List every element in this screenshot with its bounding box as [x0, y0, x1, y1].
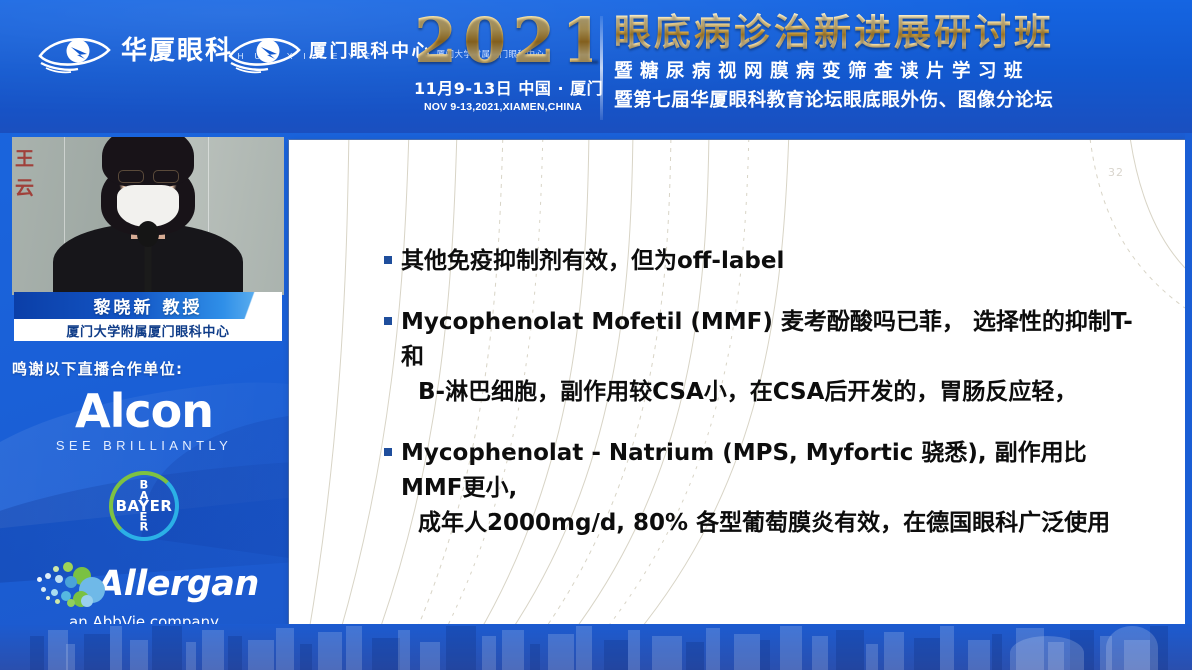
bullet-line-1: Mycophenolat Mofetil (MMF) 麦考酚酸吗已菲， 选择性的… [401, 309, 1133, 370]
event-main-title: 眼底病诊治新进展研讨班 [614, 12, 1182, 53]
slide-bullet-item: 其他免疫抑制剂有效，但为off-label [384, 244, 1144, 279]
speaker-video[interactable]: 王云 [12, 137, 284, 295]
slide-bullet-item: Mycophenolat - Natrium (MPS, Myfortic 骁悉… [384, 436, 1144, 541]
event-subtitle-2: 暨第七届华厦眼科教育论坛眼底眼外伤、图像分论坛 [614, 86, 1182, 112]
header-divider [600, 16, 603, 120]
alcon-tagline: SEE BRILLIANTLY [0, 438, 288, 453]
event-subtitle-1: 暨糖尿病视网膜病变筛查读片学习班 [614, 57, 1182, 83]
city-skyline-graphic [0, 624, 1192, 670]
allergan-logo-row: Allergan [0, 561, 288, 607]
bullet-line-2: 成年人2000mg/d, 80% 各型葡萄膜炎有效，在德国眼科广泛使用 [401, 506, 1144, 541]
event-year: 2021 [414, 8, 592, 73]
speaker-name-banner: 黎晓新 教授 [14, 292, 282, 319]
speaker-name: 黎晓新 教授 [94, 293, 203, 318]
presentation-slide[interactable]: 32 其他免疫抑制剂有效，但为off-label Mycophenolat Mo… [289, 140, 1185, 643]
bullet-text: Mycophenolat Mofetil (MMF) 麦考酚酸吗已菲， 选择性的… [401, 305, 1144, 410]
event-date-block: 2021 11月9-13日 中国 · 厦门 NOV 9-13,2021,XIAM… [414, 8, 592, 113]
sponsor-bayer: BAYER BAYER [0, 471, 288, 541]
eye-logo-icon [228, 30, 302, 74]
bullet-square-icon [384, 448, 392, 456]
speaker-hair [102, 137, 194, 187]
event-title-block: 眼底病诊治新进展研讨班 暨糖尿病视网膜病变筛查读片学习班 暨第七届华厦眼科教育论… [614, 12, 1182, 112]
left-sidebar: 王云 黎晓新 教授 厦门大学附属厦门眼科中心 鸣谢以下直播合作单位: Alcon… [0, 133, 288, 670]
video-background-text: 王云 [15, 145, 34, 204]
sponsor-allergan: Allergan an AbbVie company [0, 561, 288, 631]
broadcast-page: 华厦眼科 H U A X I A E Y E 厦门眼科中心 厦门大学附属厦门眼科… [0, 0, 1192, 670]
speaker-glasses-right [153, 170, 179, 183]
speaker-affiliation: 厦门大学附属厦门眼科中心 [66, 321, 229, 340]
banner-notch [226, 292, 282, 319]
allergan-dots-icon [29, 561, 91, 607]
event-header-banner: 华厦眼科 H U A X I A E Y E 厦门眼科中心 厦门大学附属厦门眼科… [0, 0, 1192, 133]
speaker-glasses-left [118, 170, 144, 183]
bullet-line-1: 其他免疫抑制剂有效，但为off-label [401, 248, 784, 274]
bullet-text: 其他免疫抑制剂有效，但为off-label [401, 244, 784, 279]
speaker-affiliation-bar: 厦门大学附属厦门眼科中心 [14, 319, 282, 341]
bullet-text: Mycophenolat - Natrium (MPS, Myfortic 骁悉… [401, 436, 1144, 541]
eye-logo-icon [38, 30, 112, 74]
bullet-line-1: Mycophenolat - Natrium (MPS, Myfortic 骁悉… [401, 440, 1087, 501]
event-date-cn: 11月9-13日 中国 · 厦门 [414, 75, 592, 99]
slide-page-number: 32 [1108, 166, 1124, 179]
allergan-logo-text: Allergan [97, 567, 259, 602]
sponsors-heading: 鸣谢以下直播合作单位: [12, 358, 183, 379]
sponsor-alcon: Alcon SEE BRILLIANTLY [0, 388, 288, 453]
bullet-line-2: B-淋巴细胞，副作用较CSA小，在CSA后开发的，胃肠反应轻， [401, 375, 1144, 410]
microphone-icon [137, 221, 159, 247]
right-edge-strip [1185, 133, 1192, 670]
bullet-square-icon [384, 256, 392, 264]
sponsors-list: Alcon SEE BRILLIANTLY BAYER BAYER Allerg… [0, 388, 288, 631]
slide-bullet-list: 其他免疫抑制剂有效，但为off-label Mycophenolat Mofet… [384, 244, 1144, 567]
event-date-en: NOV 9-13,2021,XIAMEN,CHINA [414, 101, 592, 113]
alcon-logo-text: Alcon [0, 388, 288, 434]
huaxia-eye-name-cn: 华厦眼科 [121, 36, 233, 66]
bayer-cross-logo-icon: BAYER BAYER [109, 471, 179, 541]
slide-bullet-item: Mycophenolat Mofetil (MMF) 麦考酚酸吗已菲， 选择性的… [384, 305, 1144, 410]
bayer-horizontal-text: BAYER [116, 497, 173, 515]
bullet-square-icon [384, 317, 392, 325]
